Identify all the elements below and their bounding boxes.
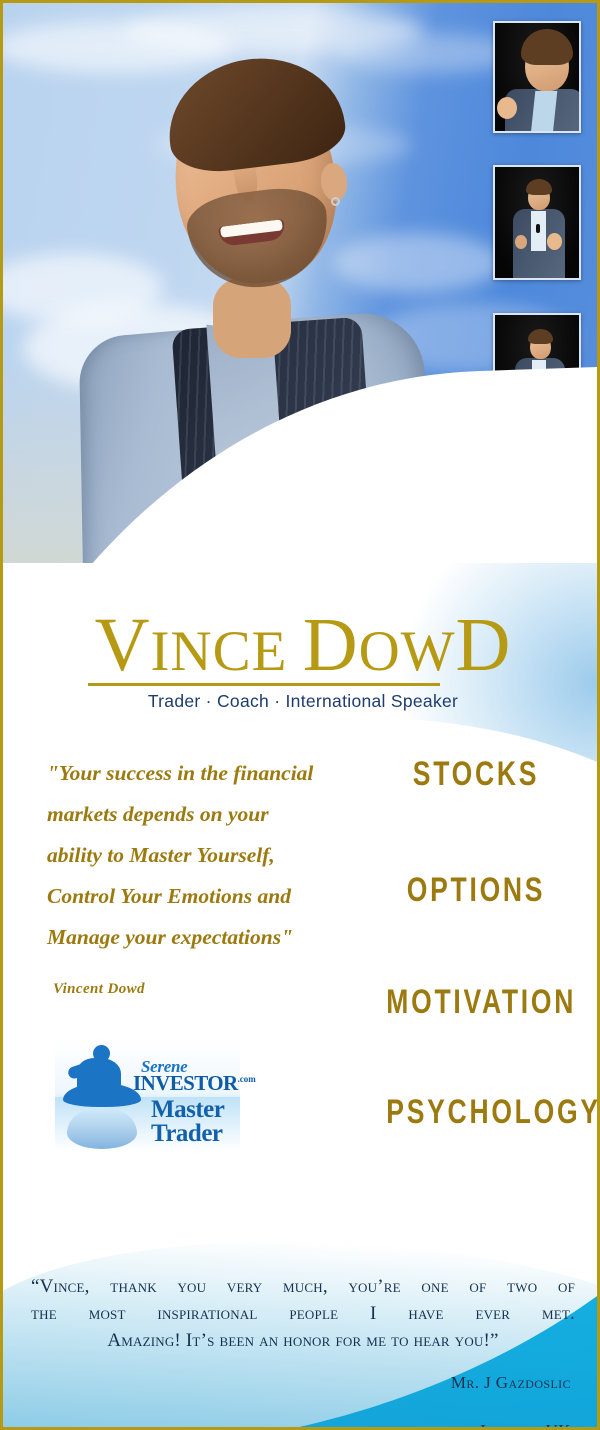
testimonial-quote: “Vince, thank you very much, you’re one … <box>31 1273 575 1354</box>
speaker-thumbnail-2 <box>493 165 581 280</box>
testimonial-line: the most inspirational people I have eve… <box>31 1300 575 1327</box>
keyword-options: OPTIONS <box>386 871 565 910</box>
hero-photo-band <box>3 3 600 603</box>
neck <box>213 278 291 358</box>
testimonial-line: Amazing! It’s been an honor for me to he… <box>31 1327 575 1354</box>
quote-line: markets depends on your <box>47 794 377 835</box>
pull-quote: "Your success in the financial markets d… <box>47 753 377 958</box>
quote-line: "Your success in the financial <box>47 753 377 794</box>
meditating-figure-icon <box>63 1045 143 1109</box>
thumb-hand <box>515 235 527 249</box>
thumb-hair <box>526 179 552 195</box>
quote-line: ability to Master Yourself, <box>47 835 377 876</box>
logo-com-text: .com <box>238 1074 256 1084</box>
keyword-psychology: PSYCHOLOGY <box>386 1093 565 1132</box>
quote-line: Control Your Emotions and <box>47 876 377 917</box>
quote-line: Manage your expectations" <box>47 917 377 958</box>
page-title: VINCE DOWD <box>3 607 600 683</box>
keyword-motivation: MOTIVATION <box>386 983 565 1022</box>
thumb-hand <box>547 233 562 250</box>
thumb-shirt <box>531 91 558 133</box>
content-area: VINCE DOWD Trader · Coach · Internationa… <box>3 563 600 1430</box>
thumb-hair <box>528 329 553 344</box>
testimonial-location: London, UK <box>31 1421 571 1430</box>
logo-investor-text: INVESTOR.com <box>133 1071 256 1096</box>
logo-trader-text: Trader <box>151 1121 223 1146</box>
logo-master-text: Master <box>151 1097 224 1122</box>
tagline: Trader · Coach · International Speaker <box>3 691 600 712</box>
testimonial-attribution: Mr. J Gazdoslic <box>31 1373 571 1393</box>
testimonial-line: “Vince, thank you very much, you’re one … <box>31 1273 575 1300</box>
keyword-stocks: STOCKS <box>386 755 565 794</box>
earring-icon <box>331 197 340 206</box>
name-heading: VINCE DOWD <box>95 607 512 683</box>
serene-investor-logo: Serene INVESTOR.com Master Trader <box>55 1041 240 1151</box>
title-underline <box>88 683 440 686</box>
speaker-thumbnail-1 <box>493 21 581 133</box>
microphone-icon <box>536 224 540 233</box>
quote-author: Vincent Dowd <box>53 981 145 998</box>
promotional-banner: VINCE DOWD Trader · Coach · Internationa… <box>0 0 600 1430</box>
thumb-hand <box>497 97 517 119</box>
